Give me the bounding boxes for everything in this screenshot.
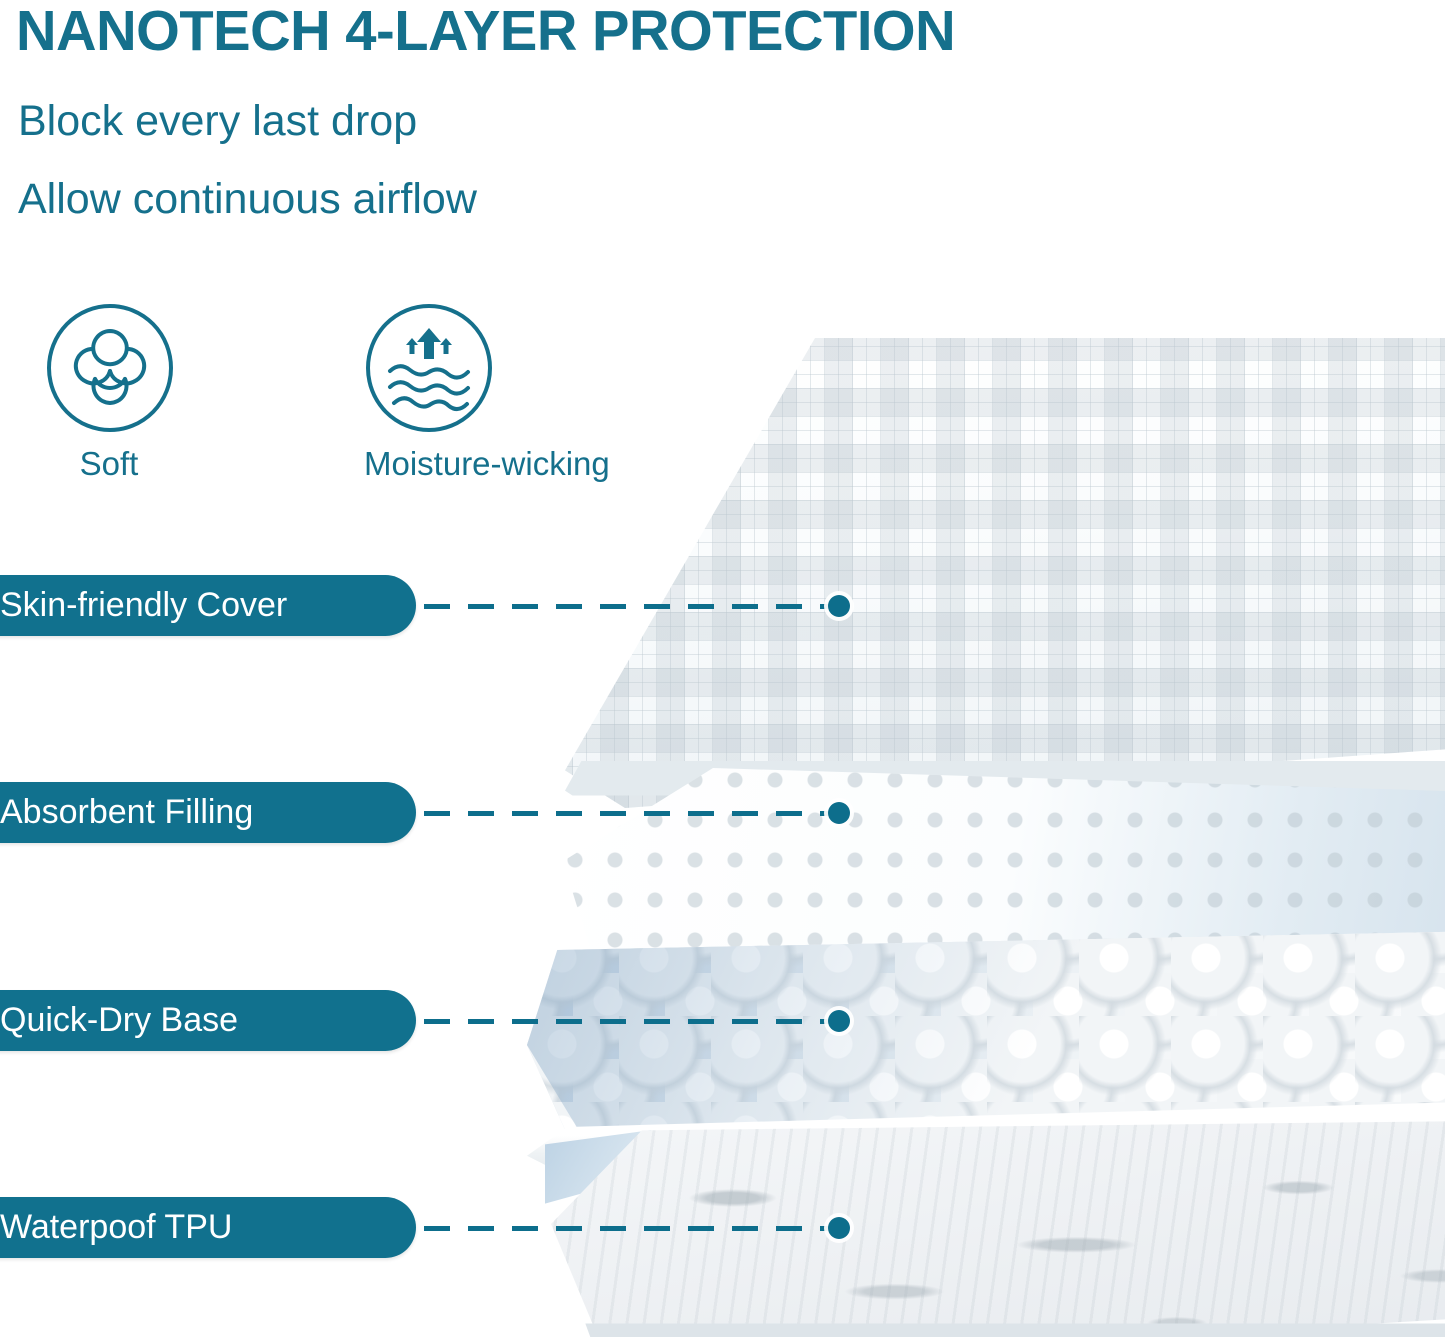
leader-line-3 xyxy=(424,1226,844,1231)
layer-label-quick-dry-base[interactable]: Quick-Dry Base xyxy=(0,990,416,1051)
leader-line-1 xyxy=(424,811,844,816)
layer-label-absorbent-filling[interactable]: Absorbent Filling xyxy=(0,782,416,843)
leader-endpoint-3 xyxy=(828,1217,850,1239)
layer-label-skin-friendly-cover[interactable]: Skin-friendly Cover xyxy=(0,575,416,636)
feature-soft: Soft xyxy=(45,303,175,480)
feature-moisture-wicking: Moisture-wicking xyxy=(364,303,494,480)
subtitle-line-2: Allow continuous airflow xyxy=(18,178,477,221)
leader-endpoint-1 xyxy=(828,802,850,824)
feature-moisture-wicking-label: Moisture-wicking xyxy=(299,447,494,480)
moisture-wicking-icon xyxy=(364,303,494,433)
layer-stack-illustration xyxy=(505,330,1445,1337)
feature-soft-label: Soft xyxy=(43,447,175,480)
layer-label-waterproof-tpu[interactable]: Waterpoof TPU xyxy=(0,1197,416,1258)
leader-endpoint-0 xyxy=(828,595,850,617)
leader-endpoint-2 xyxy=(828,1010,850,1032)
leader-line-0 xyxy=(424,604,844,609)
layer-art-skin-friendly-cover xyxy=(545,338,1445,808)
subtitle-line-1: Block every last drop xyxy=(18,100,417,143)
leader-line-2 xyxy=(424,1019,844,1024)
cotton-soft-icon xyxy=(45,303,175,433)
infographic-page: NANOTECH 4-LAYER PROTECTION Block every … xyxy=(0,0,1445,1337)
page-title: NANOTECH 4-LAYER PROTECTION xyxy=(16,2,1415,62)
